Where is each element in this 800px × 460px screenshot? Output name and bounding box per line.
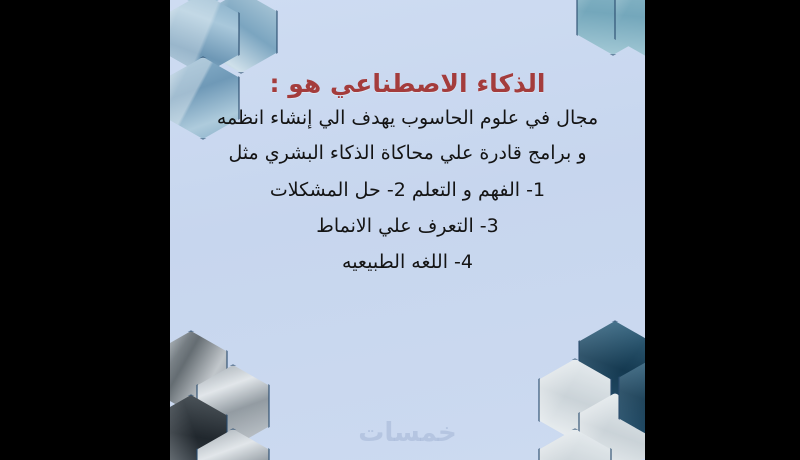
hexagon-shape (204, 0, 278, 74)
hexagon-shape (170, 0, 240, 76)
hexagon-shape (578, 320, 645, 404)
letterbox-bar-right (645, 0, 800, 460)
letterbox-bar-left (0, 0, 170, 460)
list-line-2: 3- التعرف علي الانماط (176, 217, 639, 236)
hexagon-shape (170, 330, 228, 414)
list-line-3: 4- اللغه الطبيعيه (176, 253, 639, 272)
definition-line-2: و برامج قادرة علي محاكاة الذكاء البشري م… (176, 144, 639, 163)
hexagon-shape (170, 0, 240, 10)
slide-image: الذكاء الاصطناعي هو : مجال في علوم الحاس… (0, 0, 800, 460)
slide-text-block: الذكاء الاصطناعي هو : مجال في علوم الحاس… (170, 70, 645, 272)
watermark-text: خمسات (170, 418, 645, 448)
definition-line-1: مجال في علوم الحاسوب يهدف الي إنشاء انظم… (176, 109, 639, 128)
hexagon-shape (614, 0, 645, 60)
slide-title: الذكاء الاصطناعي هو : (176, 70, 639, 99)
list-line-1: 1- الفهم و التعلم 2- حل المشكلات (176, 181, 639, 200)
slide-canvas: الذكاء الاصطناعي هو : مجال في علوم الحاس… (170, 0, 645, 460)
hexagon-shape (576, 0, 645, 56)
